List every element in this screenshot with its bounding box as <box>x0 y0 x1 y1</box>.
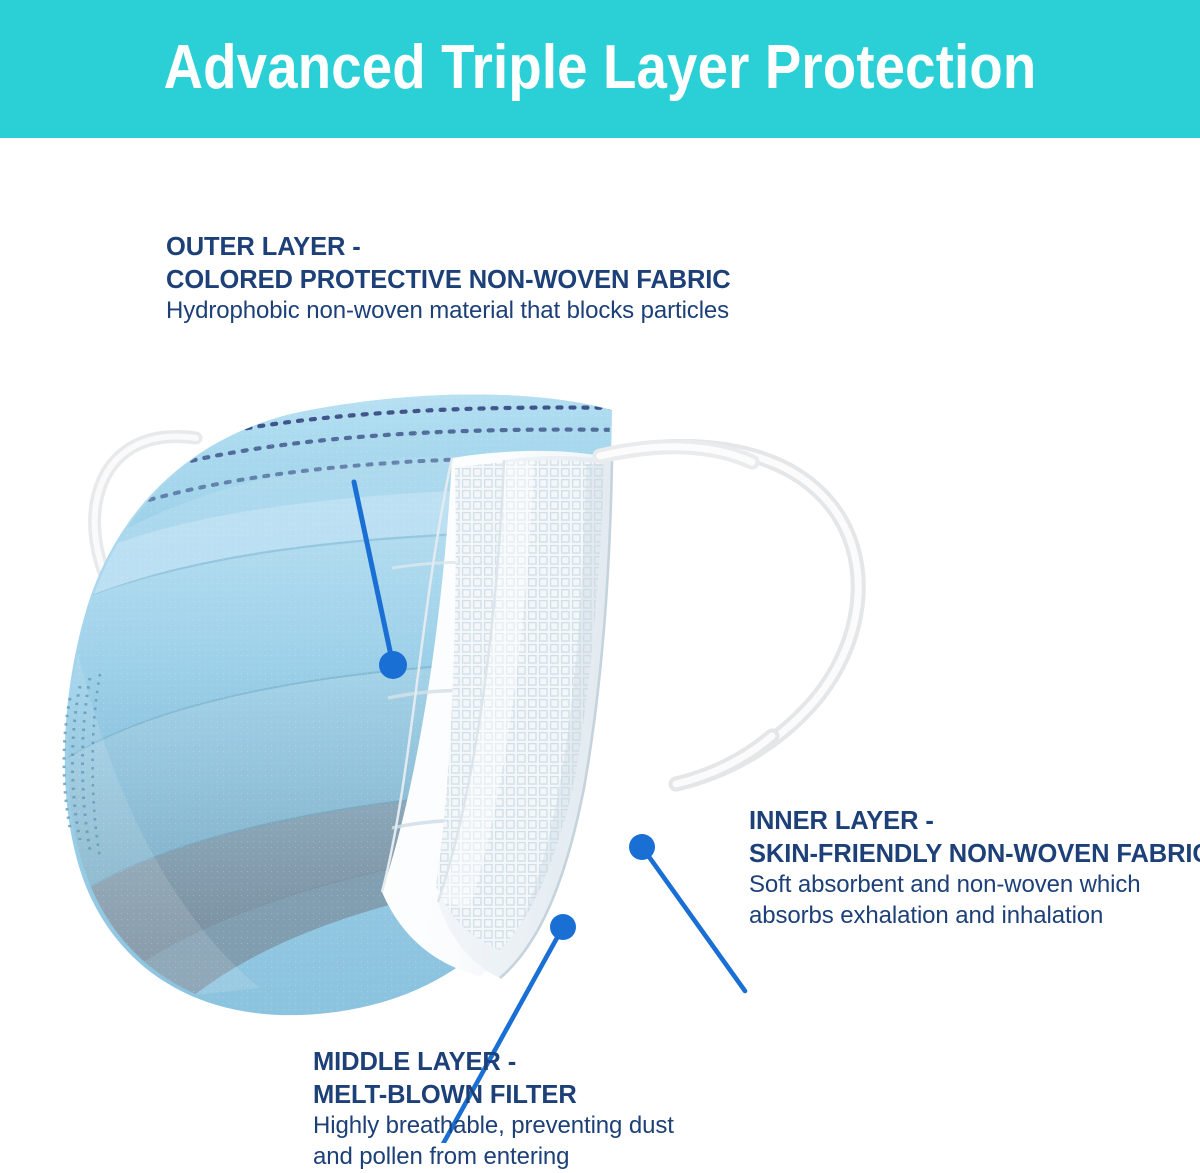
callout-outer-headline-line2: COLORED PROTECTIVE NON-WOVEN FABRIC <box>166 264 731 297</box>
callout-middle-headline-line1: MIDDLE LAYER - <box>313 1046 674 1079</box>
callout-middle-headline-line2: MELT-BLOWN FILTER <box>313 1079 674 1112</box>
page-title: Advanced Triple Layer Protection <box>72 0 1128 138</box>
callout-inner-headline-line2: SKIN-FRIENDLY NON-WOVEN FABRIC <box>749 838 1200 871</box>
callout-middle-body-line2: and pollen from entering <box>313 1142 674 1173</box>
callout-outer-layer: OUTER LAYER - COLORED PROTECTIVE NON-WOV… <box>166 231 731 327</box>
ear-loop-right-foreground <box>600 447 772 784</box>
callout-outer-headline-line1: OUTER LAYER - <box>166 231 731 264</box>
header-banner: Advanced Triple Layer Protection <box>0 0 1200 138</box>
callout-inner-body-line2: absorbs exhalation and inhalation <box>749 901 1200 932</box>
callout-inner-body-line1: Soft absorbent and non-woven which <box>749 870 1200 901</box>
ear-loop-right-icon <box>600 446 858 784</box>
callout-middle-layer: MIDDLE LAYER - MELT-BLOWN FILTER Highly … <box>313 1046 674 1173</box>
callout-leader-inner <box>629 834 745 991</box>
callout-outer-body-line1: Hydrophobic non-woven material that bloc… <box>166 296 731 327</box>
callout-middle-body-line1: Highly breathable, preventing dust <box>313 1111 674 1142</box>
callout-inner-headline-line1: INNER LAYER - <box>749 805 1200 838</box>
callout-inner-layer: INNER LAYER - SKIN-FRIENDLY NON-WOVEN FA… <box>749 805 1200 932</box>
